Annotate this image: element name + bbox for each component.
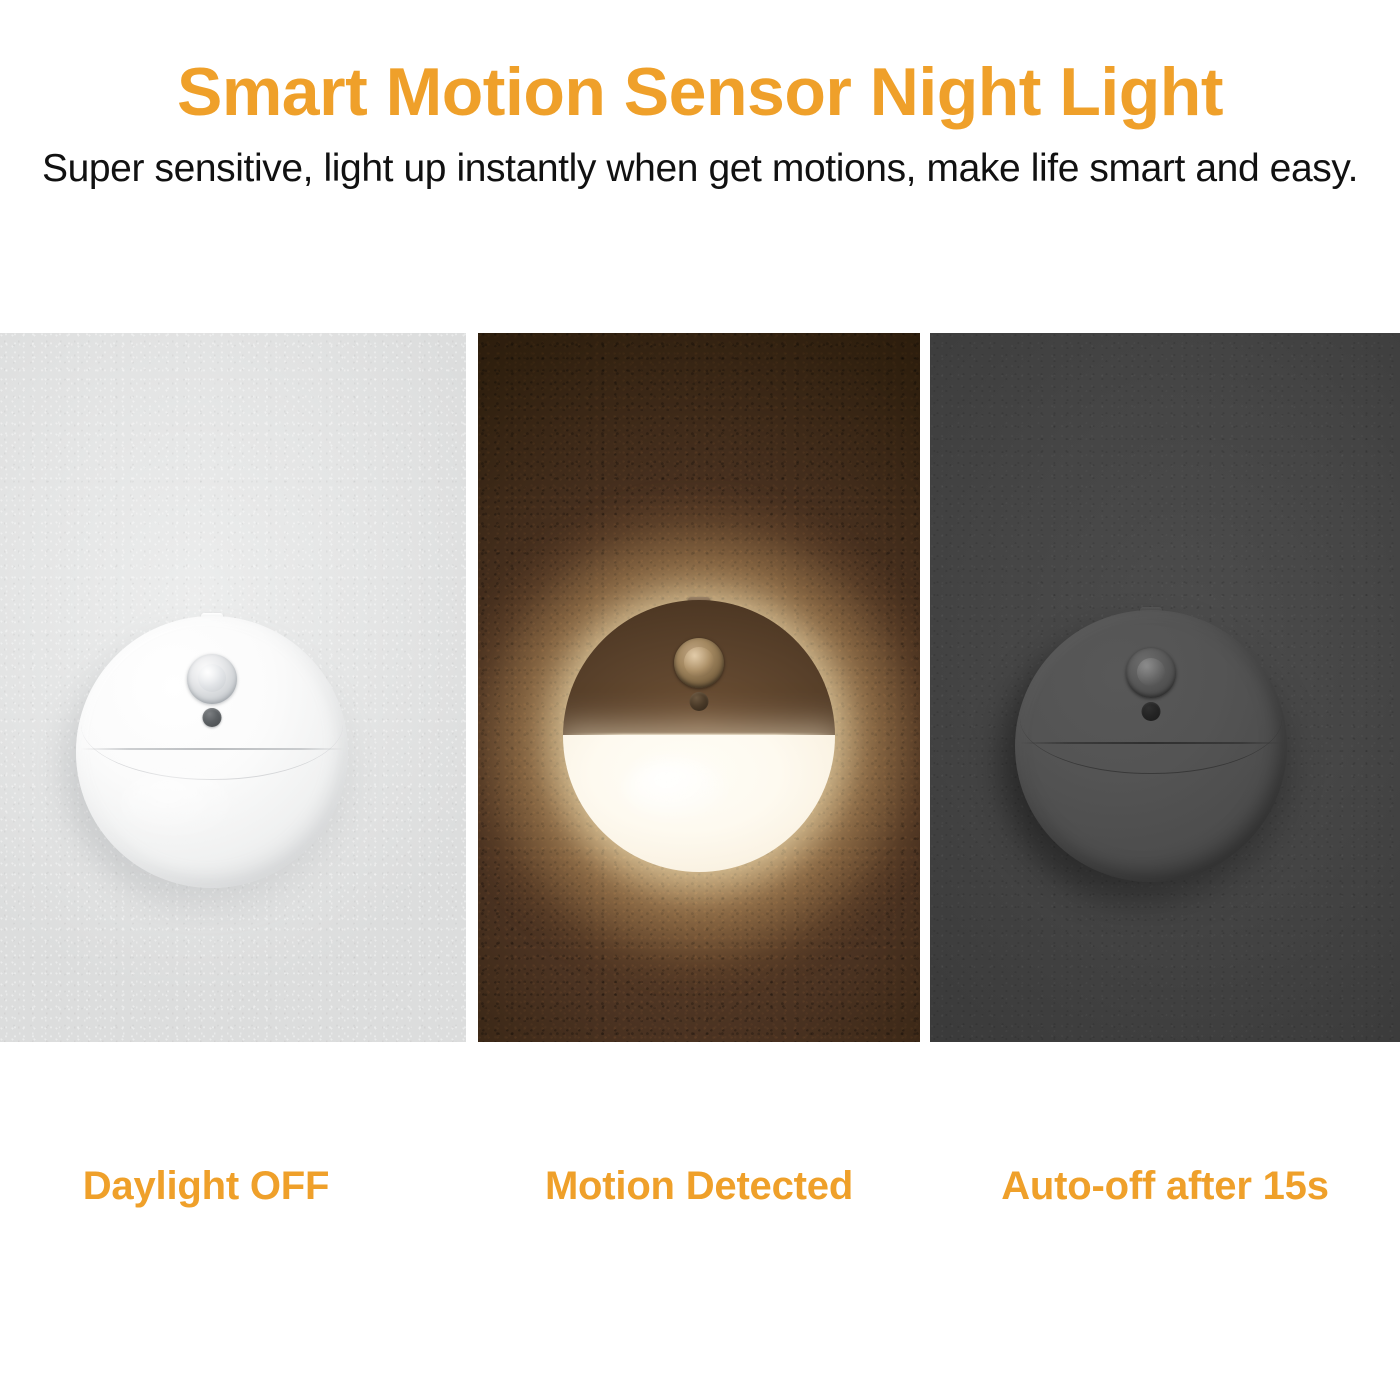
housing-seam-line <box>81 748 342 750</box>
panel-motion-detected <box>478 333 920 1042</box>
device-housing <box>563 600 835 872</box>
photocell-icon <box>203 708 222 727</box>
caption-motion-detected: Motion Detected <box>466 1160 932 1212</box>
panel-daylight-off <box>0 333 466 1042</box>
page-title: Smart Motion Sensor Night Light <box>0 58 1400 126</box>
panel-auto-off <box>930 333 1400 1042</box>
housing-seam-curve <box>1020 719 1281 774</box>
caption-daylight-off: Daylight OFF <box>0 1160 412 1212</box>
housing-gloss-highlight <box>120 768 240 839</box>
night-light-device-auto-off <box>1015 610 1287 882</box>
diffuser-gloss-highlight <box>623 758 726 818</box>
pir-sensor-dome-icon <box>674 638 724 688</box>
caption-auto-off: Auto-off after 15s <box>930 1160 1400 1212</box>
device-housing <box>76 616 348 888</box>
page-subtitle: Super sensitive, light up instantly when… <box>0 148 1400 191</box>
product-photo-strip <box>0 333 1400 1042</box>
housing-seam-curve <box>81 725 342 780</box>
device-housing <box>1015 610 1287 882</box>
pir-sensor-dome-icon <box>187 654 237 704</box>
header: Smart Motion Sensor Night Light Super se… <box>0 0 1400 300</box>
night-light-device-off <box>76 616 348 888</box>
pir-sensor-dome-icon <box>1126 648 1176 698</box>
photocell-icon <box>1142 702 1161 721</box>
housing-seam-line <box>1020 742 1281 744</box>
panel-captions: Daylight OFF Motion Detected Auto-off af… <box>0 1160 1400 1240</box>
photocell-icon <box>690 692 709 711</box>
night-light-device-on <box>563 600 835 872</box>
